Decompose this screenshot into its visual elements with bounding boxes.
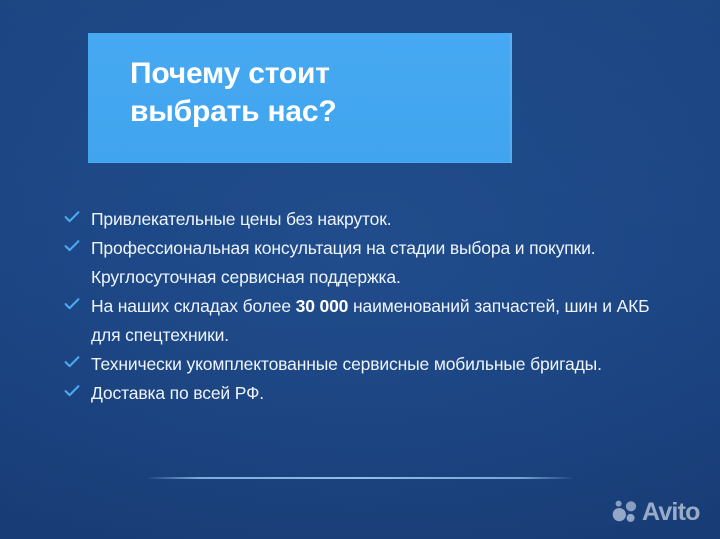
list-item: Профессиональная консультация на стадии … [64, 234, 664, 292]
list-item-label: Доставка по всей РФ. [91, 383, 264, 403]
check-icon [64, 354, 80, 370]
title-panel: Почему стоит выбрать нас? [88, 33, 512, 163]
avito-wordmark: Avito [642, 500, 700, 525]
check-icon [64, 209, 80, 225]
list-item-label: На наших складах более 30 000 наименован… [91, 296, 649, 345]
list-item-label: Технически укомплектованные сервисные мо… [91, 354, 602, 374]
avito-dots-logo-icon [612, 500, 639, 524]
divider [148, 477, 572, 479]
list-item-text-before: На наших складах более [91, 296, 296, 316]
list-item: Привлекательные цены без накруток. [64, 205, 664, 234]
list-item-label: Привлекательные цены без накруток. [91, 209, 391, 229]
avito-watermark: Avito [612, 497, 700, 527]
check-icon [64, 296, 80, 312]
inventory-count: 30 000 [296, 296, 349, 316]
list-item: На наших складах более 30 000 наименован… [64, 292, 664, 350]
list-item: Технически укомплектованные сервисные мо… [64, 350, 664, 379]
benefits-list: Привлекательные цены без накруток. Профе… [64, 205, 664, 408]
check-icon [64, 383, 80, 399]
page-title: Почему стоит выбрать нас? [130, 55, 490, 131]
list-item: Доставка по всей РФ. [64, 379, 664, 408]
check-icon [64, 238, 80, 254]
slide-canvas: Почему стоит выбрать нас? Привлекательны… [0, 0, 720, 539]
list-item-label: Профессиональная консультация на стадии … [91, 238, 595, 287]
